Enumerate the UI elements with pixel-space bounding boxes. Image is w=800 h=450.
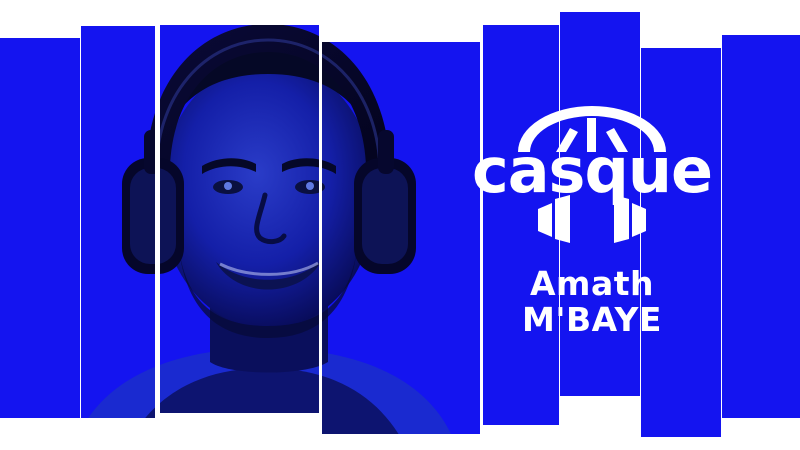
show-logo: DANS LE casque	[484, 75, 700, 250]
podcast-cover-card: DANS LE casque Amath M'BAYE	[0, 0, 800, 450]
guest-last-name: M'BAYE	[484, 302, 700, 338]
stripe-band-4	[322, 42, 480, 434]
portrait-photo	[60, 38, 80, 418]
stripe-band-3	[160, 25, 319, 413]
dans-le-arc-text: DANS LE	[517, 75, 667, 109]
guest-name: Amath M'BAYE	[484, 266, 700, 337]
portrait-photo	[160, 25, 319, 413]
stripe-band-8	[722, 35, 800, 418]
stripe-band-1	[0, 38, 80, 418]
guest-first-name: Amath	[484, 266, 700, 302]
portrait-photo	[322, 42, 480, 434]
headphones-icon	[532, 195, 652, 243]
casque-wordmark: casque	[472, 146, 712, 197]
stripe-band-2	[81, 26, 155, 418]
portrait-photo	[81, 26, 155, 418]
